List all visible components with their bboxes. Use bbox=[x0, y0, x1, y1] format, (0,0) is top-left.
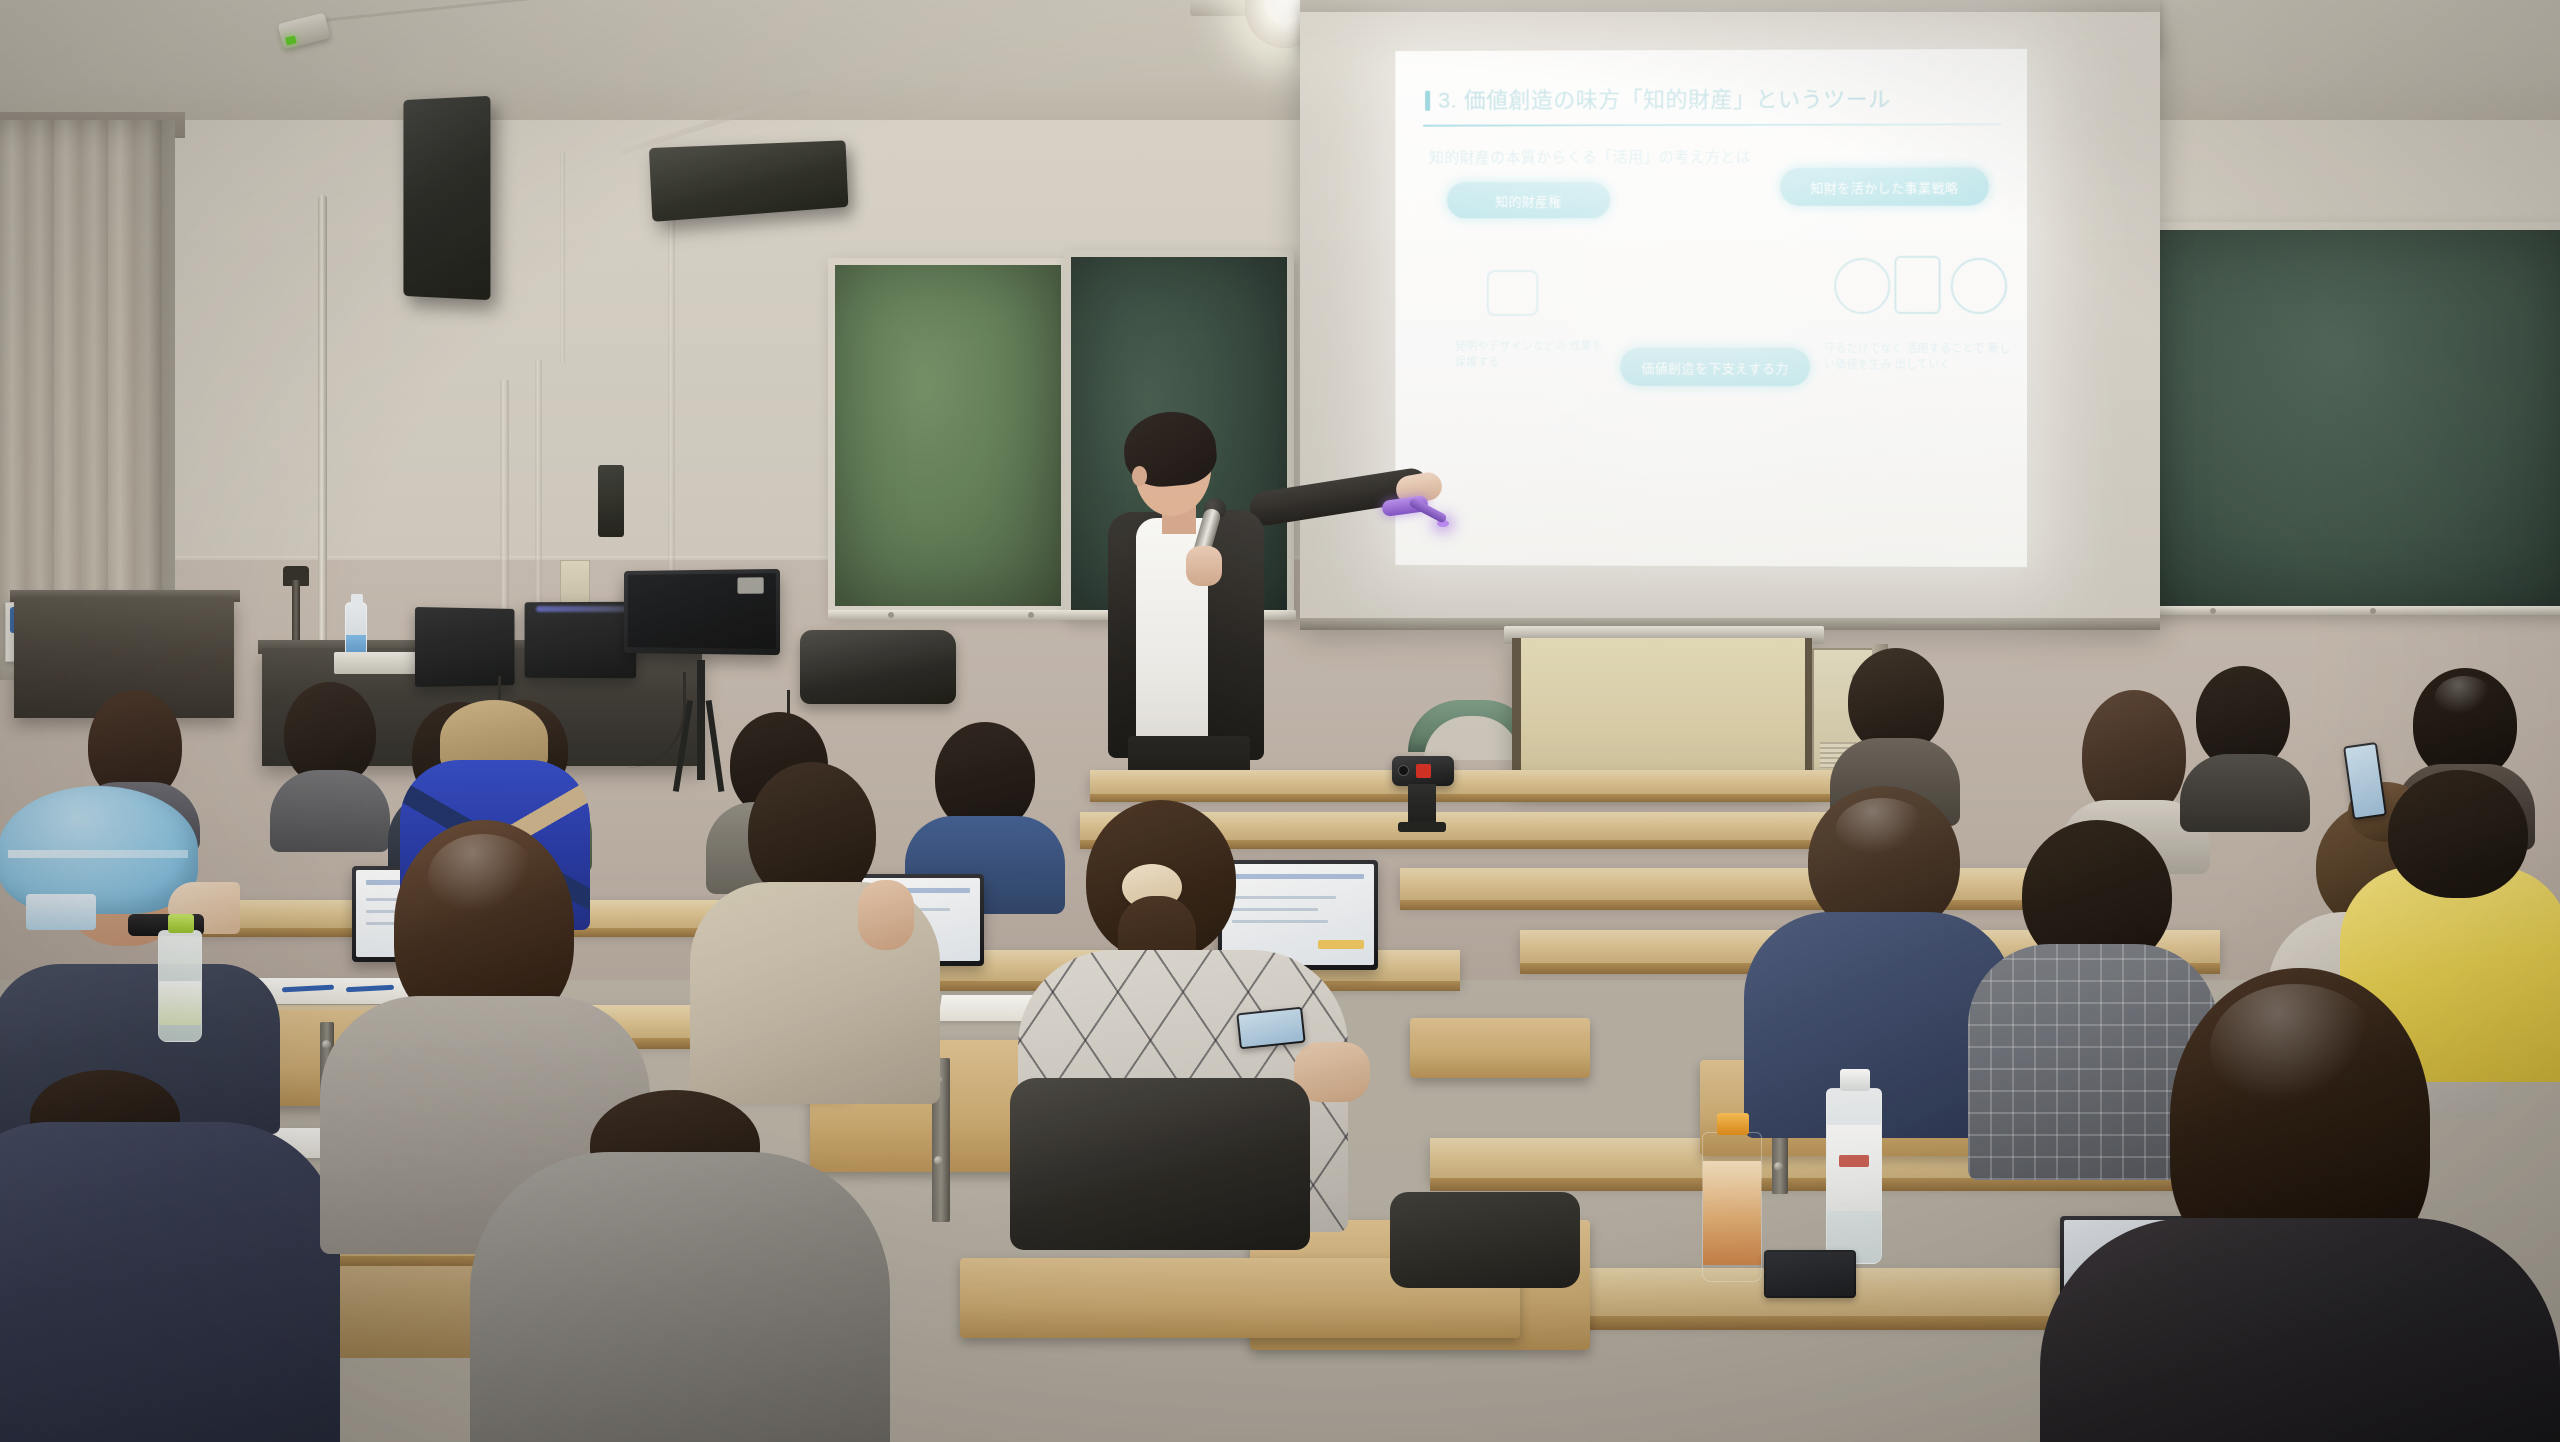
water-bottle-green-cap bbox=[158, 930, 202, 1042]
rail-screw bbox=[1028, 612, 1034, 618]
student-longhair-front bbox=[2040, 968, 2560, 1442]
slide-illustration-doc bbox=[1894, 256, 1940, 314]
lecture-hall-photo: 3. 価値創造の味方「知的財産」というツール 知的財産の本質からくる「活用」の考… bbox=[0, 0, 2560, 1442]
bottle-brand-mark bbox=[1839, 1155, 1869, 1167]
webcam-stand bbox=[1408, 784, 1436, 826]
wall-speaker-small bbox=[598, 465, 624, 537]
bench-bolt bbox=[1774, 1162, 1783, 1171]
student-grey-hood bbox=[470, 1090, 890, 1442]
slide-title-text: 3. 価値創造の味方「知的財産」というツール bbox=[1438, 86, 1891, 112]
slide-caption-left: 発明やデザインなどの 成果を保護する bbox=[1455, 340, 1614, 372]
student-glasses-back bbox=[270, 682, 390, 842]
slide-pill-left: 知的財産権 bbox=[1447, 182, 1610, 218]
bottle-cap-green bbox=[168, 914, 194, 933]
rail-screw bbox=[888, 612, 894, 618]
webcam-base bbox=[1398, 822, 1446, 832]
student-coat bbox=[2040, 1218, 2560, 1442]
chalk-rail-right bbox=[2140, 606, 2560, 615]
phone-back bbox=[1766, 1252, 1854, 1296]
bench-bolt bbox=[934, 1156, 943, 1165]
phone-case-on-desk[interactable] bbox=[1764, 1250, 1856, 1298]
presenter-mic-hand bbox=[1186, 546, 1222, 586]
wall-access-plate bbox=[560, 560, 590, 608]
wall-speaker-left bbox=[403, 96, 490, 300]
hair-highlight bbox=[2435, 676, 2493, 718]
phone-screen bbox=[1238, 1009, 1303, 1047]
slide-divider bbox=[1423, 123, 2001, 126]
student-jacket bbox=[0, 1122, 340, 1442]
slide-pill-right: 知財を活かした事業戦略 bbox=[1780, 167, 1989, 205]
chalkboard-left bbox=[828, 258, 1068, 613]
webcam-lens-icon bbox=[1398, 765, 1409, 776]
backpack-on-bench bbox=[800, 630, 956, 704]
cap-strap bbox=[26, 894, 96, 930]
presenter-ear bbox=[1132, 466, 1147, 486]
coffee-bottle-caramel bbox=[1702, 1132, 1762, 1282]
bottle-cap bbox=[351, 594, 363, 604]
student-hair bbox=[2388, 770, 2528, 898]
hair-highlight bbox=[2210, 984, 2380, 1114]
slide-title: 3. 価値創造の味方「知的財産」というツール bbox=[1425, 81, 1891, 114]
smartphone-on-desk[interactable] bbox=[1236, 1007, 1305, 1050]
tripod-laptop-sticker bbox=[737, 577, 763, 593]
bottle-label bbox=[1703, 1161, 1761, 1265]
water-bottle-clear bbox=[1826, 1088, 1882, 1264]
presenter-jacket-right bbox=[1208, 510, 1264, 760]
bench-back-right-2 bbox=[1410, 1018, 1590, 1078]
av-white-device bbox=[334, 652, 424, 674]
slide-illustration-globe2 bbox=[1951, 258, 2007, 314]
bag-on-floor-right bbox=[1390, 1192, 1580, 1288]
student-dark-right-back bbox=[2180, 666, 2310, 816]
cap-seam bbox=[8, 850, 188, 858]
rail-screw bbox=[2210, 608, 2216, 614]
bottle-cap-white bbox=[1840, 1069, 1870, 1091]
student-hand bbox=[858, 880, 914, 950]
projected-slide: 3. 価値創造の味方「知的財産」というツール 知的財産の本質からくる「活用」の考… bbox=[1395, 49, 2027, 567]
tripod-laptop bbox=[620, 570, 780, 670]
sensor-led-indicator bbox=[285, 35, 297, 45]
bag-on-floor-center bbox=[1010, 1078, 1310, 1250]
hair-highlight bbox=[428, 834, 538, 920]
lectern bbox=[1512, 638, 1812, 788]
slide-subtitle: 知的財産の本質からくる「活用」の考え方とは bbox=[1429, 146, 1751, 168]
slide-title-marker bbox=[1425, 91, 1430, 111]
grey-hoodie bbox=[470, 1152, 890, 1442]
rail-screw bbox=[2370, 608, 2376, 614]
hair-highlight bbox=[1836, 798, 1928, 860]
slide-caption-right: 守るだけでなく 活用することで 新しい価値を生み 出していく bbox=[1824, 342, 2011, 374]
student-back-right-1 bbox=[1830, 648, 1960, 808]
webcam-rec-indicator bbox=[1416, 764, 1431, 778]
slide-illustration-left bbox=[1487, 270, 1539, 316]
slide-pill-center: 価値創造を下支えする力 bbox=[1620, 348, 1810, 386]
wall-conduit-5 bbox=[560, 152, 565, 362]
student-cap-blue bbox=[0, 778, 280, 1108]
student-navy-front bbox=[0, 1070, 340, 1442]
bottle-cap-orange bbox=[1717, 1113, 1749, 1135]
student-beige-knit bbox=[690, 762, 940, 1092]
chalkboard-right bbox=[2140, 222, 2560, 614]
bottle-label bbox=[159, 981, 201, 1025]
slide-illustration-globe1 bbox=[1834, 258, 1890, 314]
av-monitor-1 bbox=[415, 607, 515, 687]
recording-webcam bbox=[1392, 756, 1454, 786]
tripod-laptop-lid bbox=[624, 569, 780, 655]
bottle-label bbox=[1827, 1125, 1881, 1211]
